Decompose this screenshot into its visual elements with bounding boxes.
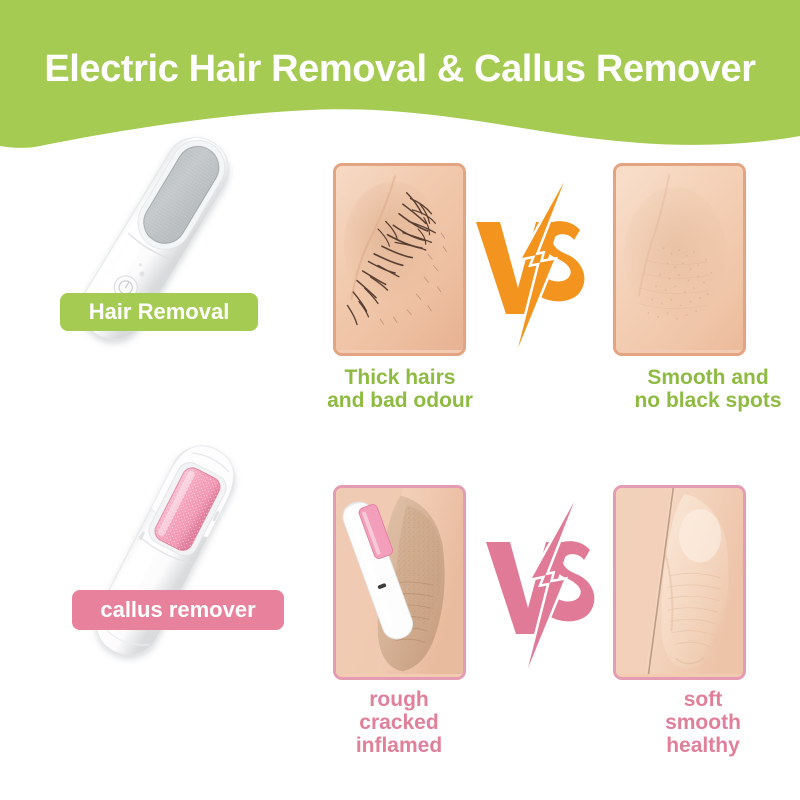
label-hair-removal: Hair Removal: [60, 293, 258, 331]
photo-after-hair: [613, 163, 746, 356]
page-title: Electric Hair Removal & Callus Remover: [0, 48, 800, 91]
label-callus-remover: callus remover: [72, 590, 284, 630]
vs-badge-hair: [468, 180, 598, 350]
product-infographic: Electric Hair Removal & Callus Remover: [0, 0, 800, 800]
photo-before-foot: [333, 485, 466, 680]
caption-before-hair: Thick hairs and bad odour: [300, 366, 500, 412]
photo-before-hair: [333, 163, 466, 356]
photo-after-foot: [613, 485, 746, 680]
caption-after-foot: soft smooth healthy: [613, 688, 793, 757]
callus-remover-device: [18, 445, 308, 665]
vs-badge-foot: [478, 500, 608, 670]
caption-after-hair: Smooth and no black spots: [616, 366, 800, 412]
caption-before-foot: rough cracked inflamed: [309, 688, 489, 757]
